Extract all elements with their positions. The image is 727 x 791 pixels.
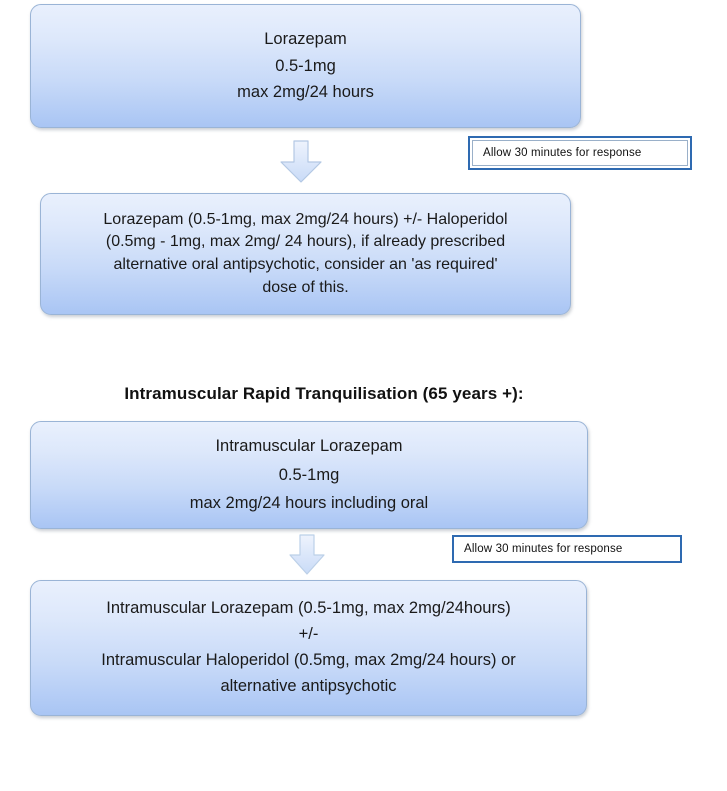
im-step-one-box: Intramuscular Lorazepam 0.5-1mg max 2mg/…	[30, 421, 588, 529]
down-arrow-icon	[279, 140, 323, 184]
im-response-callout-text: Allow 30 minutes for response	[454, 543, 622, 555]
oral-step-two-line-1: Lorazepam (0.5-1mg, max 2mg/24 hours) +/…	[31, 209, 580, 232]
im-step-two-line-3: Intramuscular Haloperidol (0.5mg, max 2m…	[25, 648, 592, 674]
oral-step-one-box: Lorazepam 0.5-1mg max 2mg/24 hours	[30, 4, 581, 128]
oral-response-callout-text: Allow 30 minutes for response	[473, 147, 641, 159]
oral-step-two-line-3: alternative oral antipsychotic, consider…	[31, 254, 580, 277]
oral-response-callout: Allow 30 minutes for response	[468, 136, 692, 170]
flowchart-canvas: Lorazepam 0.5-1mg max 2mg/24 hours Allow…	[0, 0, 727, 791]
im-step-two-line-4: alternative antipsychotic	[25, 674, 592, 700]
im-step-two-line-1: Intramuscular Lorazepam (0.5-1mg, max 2m…	[25, 596, 592, 622]
oral-step-one-line-1: Lorazepam	[31, 26, 580, 52]
im-step-two-line-2: +/-	[25, 622, 592, 648]
im-step-one-line-2: 0.5-1mg	[31, 461, 587, 489]
down-arrow-icon	[288, 534, 326, 576]
oral-step-two-box: Lorazepam (0.5-1mg, max 2mg/24 hours) +/…	[40, 193, 571, 315]
im-step-one-line-1: Intramuscular Lorazepam	[31, 432, 587, 460]
oral-response-callout-inner: Allow 30 minutes for response	[472, 140, 688, 166]
oral-step-one-line-2: 0.5-1mg	[31, 53, 580, 79]
oral-step-two-line-2: (0.5mg - 1mg, max 2mg/ 24 hours), if alr…	[31, 231, 580, 254]
oral-step-two-line-4: dose of this.	[31, 277, 580, 300]
im-section-heading: Intramuscular Rapid Tranquilisation (65 …	[0, 384, 648, 404]
oral-step-one-line-3: max 2mg/24 hours	[31, 79, 580, 105]
im-step-two-box: Intramuscular Lorazepam (0.5-1mg, max 2m…	[30, 580, 587, 716]
im-response-callout: Allow 30 minutes for response	[452, 535, 682, 563]
im-step-one-line-3: max 2mg/24 hours including oral	[31, 489, 587, 517]
